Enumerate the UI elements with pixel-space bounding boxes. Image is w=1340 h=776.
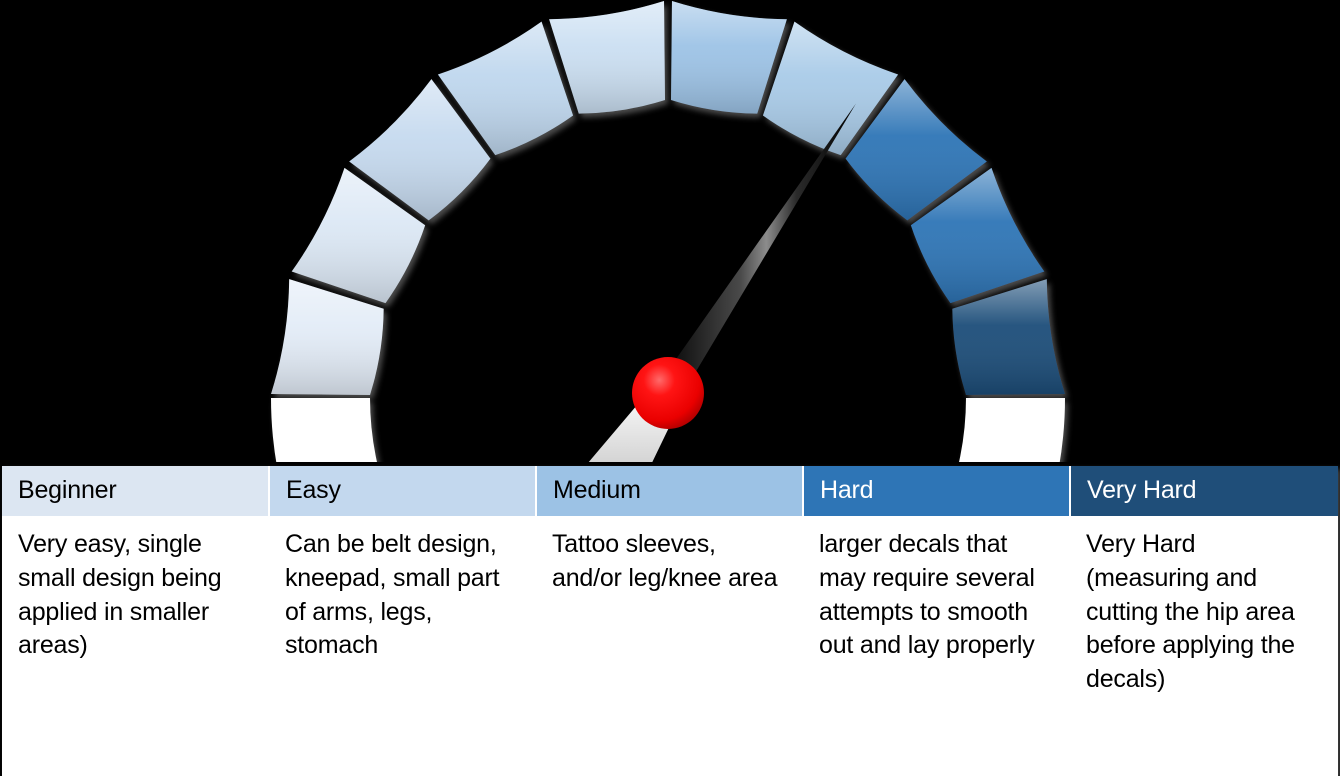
table-header-row: Beginner Easy Medium Hard Very Hard [2,466,1338,516]
difficulty-gauge [0,0,1340,462]
column-header-beginner[interactable]: Beginner [2,466,269,516]
description-easy: Can be belt design, kneepad, small part … [269,516,536,776]
description-medium: Tattoo sleeves, and/or leg/knee area [536,516,803,776]
column-header-easy[interactable]: Easy [269,466,536,516]
difficulty-levels-table: Beginner Easy Medium Hard Very Hard Very… [2,466,1338,776]
column-header-medium[interactable]: Medium [536,466,803,516]
table-row: Very easy, single small design being app… [2,516,1338,776]
gauge-hub[interactable] [632,357,704,429]
column-header-very-hard[interactable]: Very Hard [1070,466,1338,516]
description-very-hard: Very Hard (measuring and cutting the hip… [1070,516,1338,776]
gauge-container [0,0,1340,462]
legend-table-container: Beginner Easy Medium Hard Very Hard Very… [0,462,1340,767]
description-hard: larger decals that may require several a… [803,516,1070,776]
column-header-hard[interactable]: Hard [803,466,1070,516]
gauge-needle[interactable] [657,104,856,400]
gauge-ring-shading [271,1,1065,395]
description-beginner: Very easy, single small design being app… [2,516,269,776]
slide-root: Beginner Easy Medium Hard Very Hard Very… [0,0,1340,767]
